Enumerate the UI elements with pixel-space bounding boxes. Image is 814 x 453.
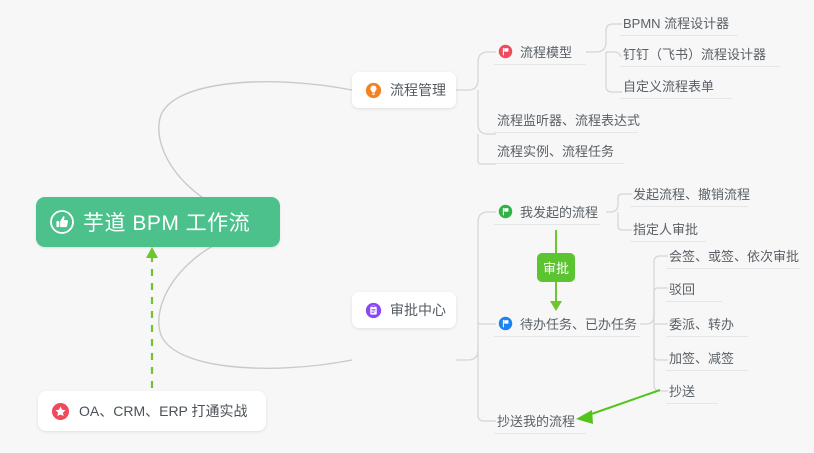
wire-initiated-to-start <box>606 194 632 212</box>
node-dingtalk-feishu-designer-label: 钉钉（飞书）流程设计器 <box>623 44 766 63</box>
clipboard-icon <box>365 302 382 319</box>
mindmap-canvas: 芋道 BPM 工作流 流程管理 审批中心 <box>0 0 814 453</box>
integration-arrow <box>146 247 158 388</box>
node-custom-process-form[interactable]: 自定义流程表单 <box>620 73 732 99</box>
node-process-listener-expression-label: 流程监听器、流程表达式 <box>497 110 640 129</box>
node-process-model-label: 流程模型 <box>520 42 572 61</box>
thumbs-up-icon <box>50 210 74 234</box>
wire-process-trunk <box>456 52 496 90</box>
integration-callout-node[interactable]: OA、CRM、ERP 打通实战 <box>38 391 266 431</box>
node-start-cancel-process-label: 发起流程、撤销流程 <box>633 184 750 203</box>
integration-callout-label: OA、CRM、ERP 打通实战 <box>79 401 248 421</box>
node-assignee-approval[interactable]: 指定人审批 <box>630 216 706 242</box>
node-cc-to-me-process-label: 抄送我的流程 <box>497 411 575 430</box>
root-label: 芋道 BPM 工作流 <box>83 207 250 237</box>
flag-red-icon <box>498 44 513 59</box>
node-cc[interactable]: 抄送 <box>666 378 718 404</box>
node-reject-label: 驳回 <box>669 279 695 298</box>
flag-blue-icon <box>498 316 513 331</box>
branch-process-management-label: 流程管理 <box>390 80 446 100</box>
branch-approval-center[interactable]: 审批中心 <box>352 292 456 328</box>
wire-approve-trunk <box>456 212 496 360</box>
node-bpmn-designer[interactable]: BPMN 流程设计器 <box>620 10 738 36</box>
root-node[interactable]: 芋道 BPM 工作流 <box>36 197 280 247</box>
node-add-remove-sign-label: 加签、减签 <box>669 348 734 367</box>
node-delegate-transfer[interactable]: 委派、转办 <box>666 311 748 337</box>
node-todo-done-tasks[interactable]: 待办任务、已办任务 <box>494 311 640 337</box>
branch-process-management[interactable]: 流程管理 <box>352 72 456 108</box>
node-my-initiated-process-label: 我发起的流程 <box>520 202 598 221</box>
node-process-listener-expression[interactable]: 流程监听器、流程表达式 <box>494 107 638 133</box>
star-icon <box>51 402 70 421</box>
node-cc-label: 抄送 <box>669 381 695 400</box>
node-add-remove-sign[interactable]: 加签、减签 <box>666 345 748 371</box>
approval-tag-badge[interactable]: 审批 <box>537 253 575 282</box>
approval-tag-label: 审批 <box>543 258 569 277</box>
flag-green-icon <box>498 204 513 219</box>
node-countersign-or-sequential[interactable]: 会签、或签、依次审批 <box>666 243 800 269</box>
node-assignee-approval-label: 指定人审批 <box>633 219 698 238</box>
node-process-model[interactable]: 流程模型 <box>494 39 586 65</box>
wire-root-to-approve <box>159 228 352 368</box>
node-cc-to-me-process[interactable]: 抄送我的流程 <box>494 408 586 434</box>
lightbulb-icon <box>365 82 382 99</box>
node-reject[interactable]: 驳回 <box>666 276 722 302</box>
node-start-cancel-process[interactable]: 发起流程、撤销流程 <box>630 181 748 207</box>
node-my-initiated-process[interactable]: 我发起的流程 <box>494 199 600 225</box>
node-countersign-or-sequential-label: 会签、或签、依次审批 <box>669 246 799 265</box>
node-delegate-transfer-label: 委派、转办 <box>669 314 734 333</box>
wire-todo-to-countersign <box>640 256 668 324</box>
node-dingtalk-feishu-designer[interactable]: 钉钉（飞书）流程设计器 <box>620 41 780 67</box>
node-process-instance-task[interactable]: 流程实例、流程任务 <box>494 138 624 164</box>
node-bpmn-designer-label: BPMN 流程设计器 <box>623 13 729 32</box>
branch-approval-center-label: 审批中心 <box>390 300 446 320</box>
wire-model-to-bpmn <box>586 24 622 52</box>
cc-flow-arrow <box>576 390 660 424</box>
node-todo-done-tasks-label: 待办任务、已办任务 <box>520 314 637 333</box>
node-process-instance-task-label: 流程实例、流程任务 <box>497 141 614 160</box>
node-custom-process-form-label: 自定义流程表单 <box>623 76 714 95</box>
